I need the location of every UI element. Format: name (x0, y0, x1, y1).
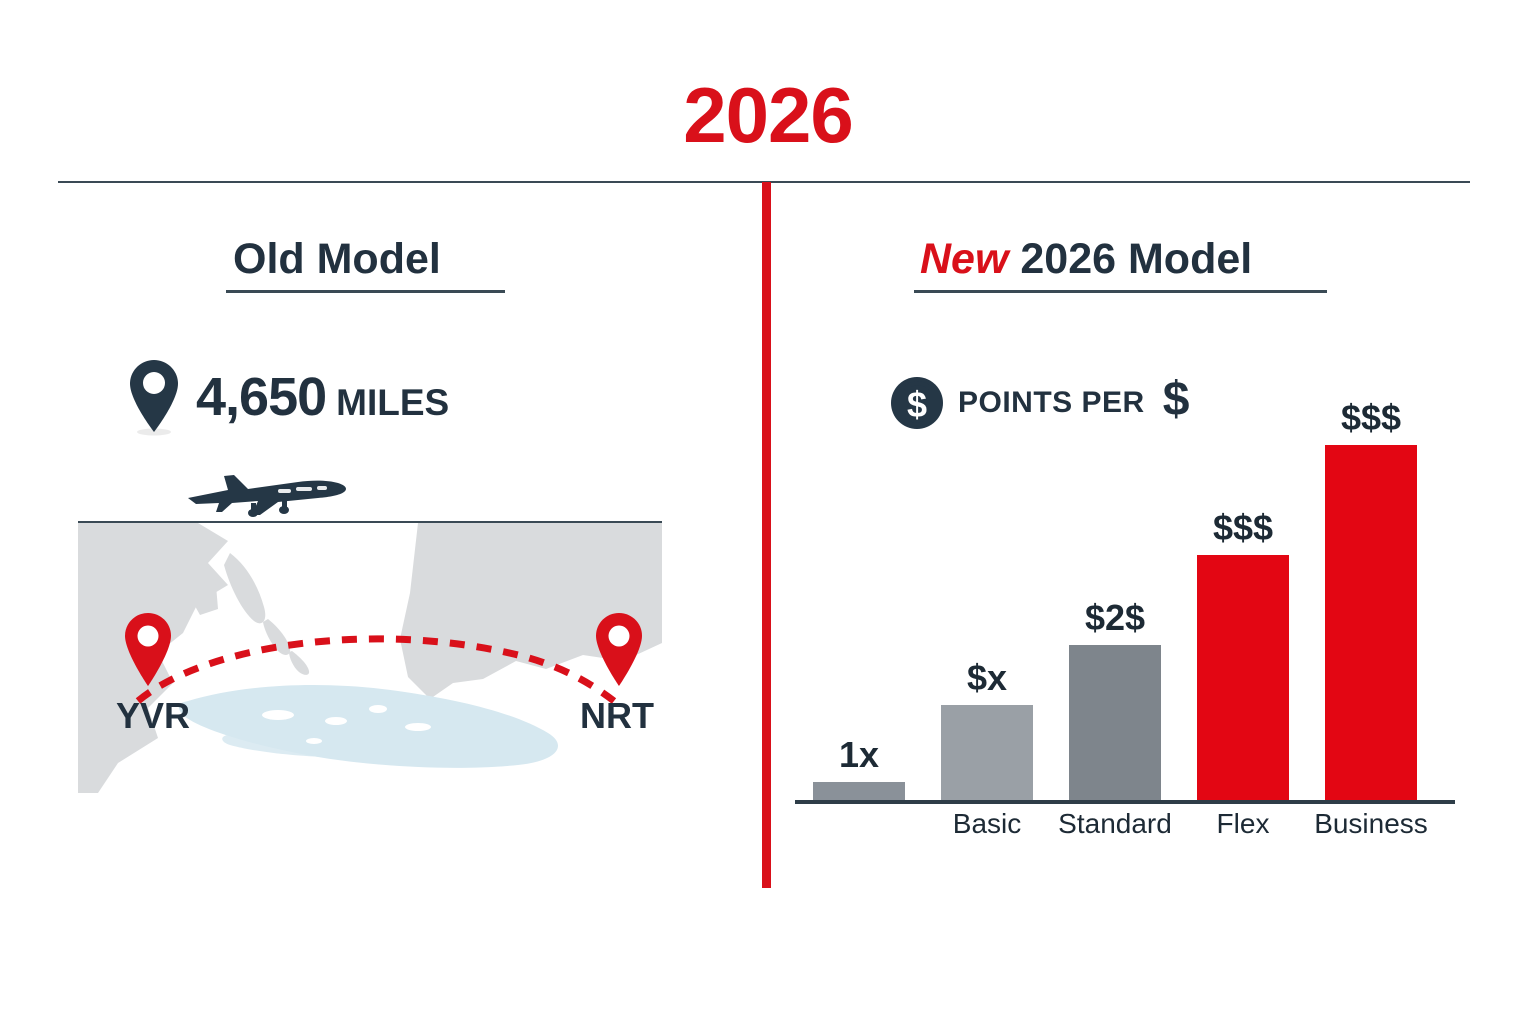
bar-value-label: $$$ (1341, 400, 1401, 436)
old-model-heading-underline (226, 290, 505, 293)
bar-column: $x (941, 660, 1033, 800)
page-title: 2026 (0, 76, 1536, 154)
old-model-heading: Old Model (233, 238, 441, 281)
bar-rect (1197, 555, 1289, 800)
new-model-heading-underline (914, 290, 1327, 293)
bar-value-label: $x (967, 660, 1007, 696)
bar-column: 1x (813, 737, 905, 800)
map-pin-icon (126, 358, 182, 436)
bar-rect (941, 705, 1033, 800)
miles-value: 4,650 (196, 370, 326, 424)
miles-stat: 4,650 MILES (126, 358, 449, 436)
bar-value-label: 1x (839, 737, 879, 773)
new-model-heading-new: New (920, 235, 1008, 283)
destination-airport-code: NRT (580, 698, 654, 734)
bar-value-label: $$$ (1213, 510, 1273, 546)
bar-rect (813, 782, 905, 800)
new-model-heading-rest: 2026 Model (1020, 235, 1252, 283)
miles-unit: MILES (336, 384, 449, 421)
bar-column: $$$ (1325, 400, 1417, 800)
airplane-icon (186, 462, 361, 522)
center-vertical-divider (762, 182, 771, 888)
points-bar-chart: 1x $x $2$ $$$ $$$ Basic Standard Flex Bu… (795, 400, 1455, 860)
map-pin-red-icon-destination (592, 612, 646, 688)
bar-rect (1325, 445, 1417, 800)
chart-axis-line (795, 800, 1455, 804)
bar-chart-plot: 1x $x $2$ $$$ $$$ (795, 400, 1455, 800)
category-label-business: Business (1296, 810, 1446, 838)
bar-column: $2$ (1069, 600, 1161, 800)
origin-airport-code: YVR (116, 698, 190, 734)
map-pin-red-icon-origin (121, 612, 175, 688)
new-model-heading: New 2026 Model (920, 238, 1252, 281)
bar-rect (1069, 645, 1161, 800)
bar-value-label: $2$ (1085, 600, 1145, 636)
bar-column: $$$ (1197, 510, 1289, 800)
